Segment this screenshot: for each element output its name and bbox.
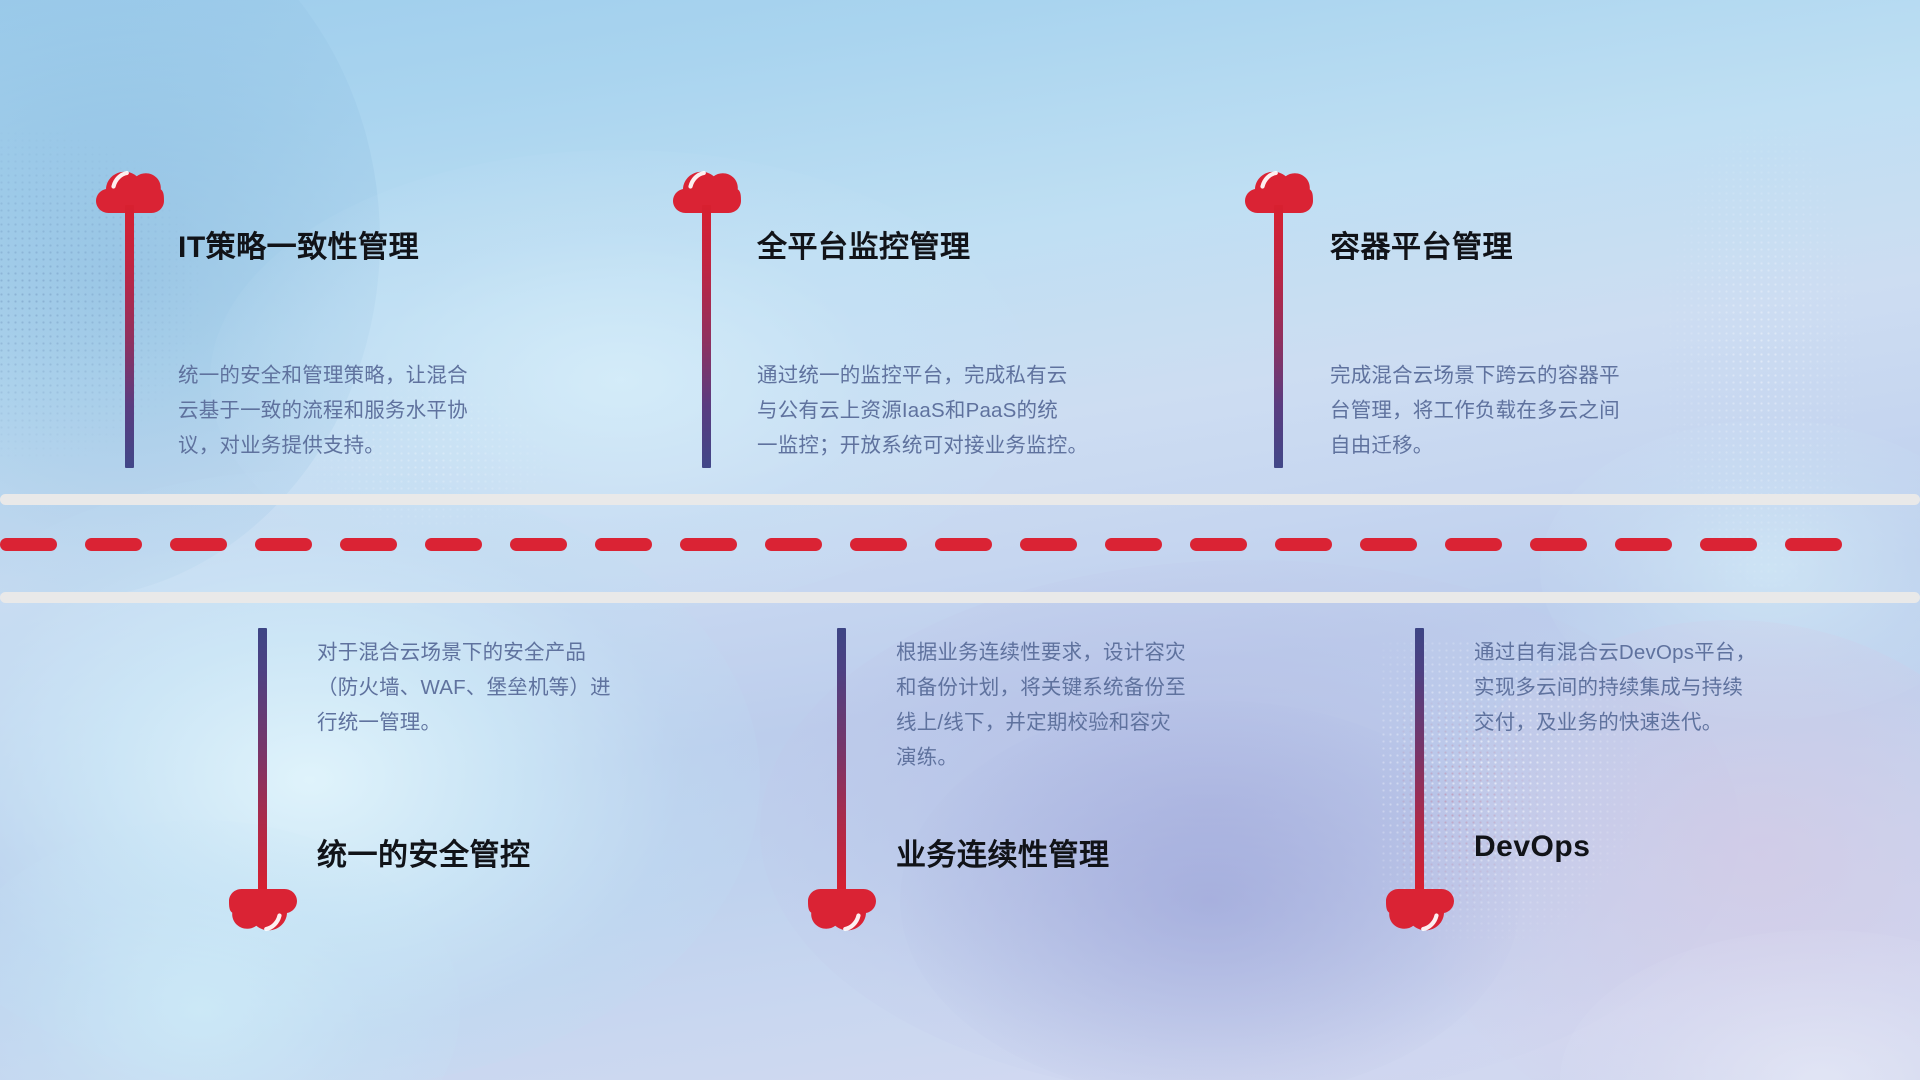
feature-title: 容器平台管理 — [1330, 222, 1513, 266]
feature-title: 业务连续性管理 — [896, 830, 1110, 874]
road-dash — [1615, 538, 1672, 551]
road-dash — [1275, 538, 1332, 551]
feature-description: 完成混合云场景下跨云的容器平 台管理，将工作负载在多云之间 自由迁移。 — [1330, 358, 1620, 463]
road-dash — [1020, 538, 1077, 551]
road-dash — [510, 538, 567, 551]
road-dash — [1785, 538, 1842, 551]
road-dash — [255, 538, 312, 551]
road-dash — [1530, 538, 1587, 551]
connector-stem — [702, 205, 711, 468]
connector-stem — [837, 628, 846, 890]
road-dash — [170, 538, 227, 551]
connector-stem — [1415, 628, 1424, 890]
diagram-canvas: IT策略一致性管理 统一的安全和管理策略，让混合 云基于一致的流程和服务水平协 … — [0, 0, 1920, 1080]
feature-description: 通过自有混合云DevOps平台， 实现多云间的持续集成与持续 交付，及业务的快速… — [1474, 635, 1756, 740]
connector-stem — [125, 205, 134, 468]
feature-title: 全平台监控管理 — [757, 222, 971, 266]
road-dash — [765, 538, 822, 551]
road-edge-top — [0, 494, 1920, 505]
road-divider — [0, 494, 1920, 604]
feature-description: 根据业务连续性要求，设计容灾 和备份计划，将关键系统备份至 线上/线下，并定期校… — [896, 635, 1186, 775]
road-dash — [850, 538, 907, 551]
feature-description: 统一的安全和管理策略，让混合 云基于一致的流程和服务水平协 议，对业务提供支持。 — [178, 358, 468, 463]
feature-description: 对于混合云场景下的安全产品 （防火墙、WAF、堡垒机等）进 行统一管理。 — [317, 635, 611, 740]
connector-stem — [258, 628, 267, 890]
feature-title: 统一的安全管控 — [317, 830, 531, 874]
road-dash — [340, 538, 397, 551]
road-dash-row — [0, 538, 1920, 551]
road-dash — [85, 538, 142, 551]
road-dash — [0, 538, 57, 551]
road-dash — [1190, 538, 1247, 551]
feature-title: IT策略一致性管理 — [178, 222, 419, 266]
feature-title: DevOps — [1474, 830, 1590, 864]
cloud-icon — [808, 888, 876, 940]
connector-stem — [1274, 205, 1283, 468]
road-dash — [1700, 538, 1757, 551]
road-edge-bottom — [0, 592, 1920, 603]
road-dash — [1105, 538, 1162, 551]
road-dash — [935, 538, 992, 551]
road-dash — [1445, 538, 1502, 551]
road-dash — [425, 538, 482, 551]
road-dash — [1360, 538, 1417, 551]
cloud-icon — [229, 888, 297, 940]
road-dash — [595, 538, 652, 551]
road-dash — [680, 538, 737, 551]
cloud-icon — [1386, 888, 1454, 940]
feature-description: 通过统一的监控平台，完成私有云 与公有云上资源IaaS和PaaS的统 一监控；开… — [757, 358, 1088, 463]
